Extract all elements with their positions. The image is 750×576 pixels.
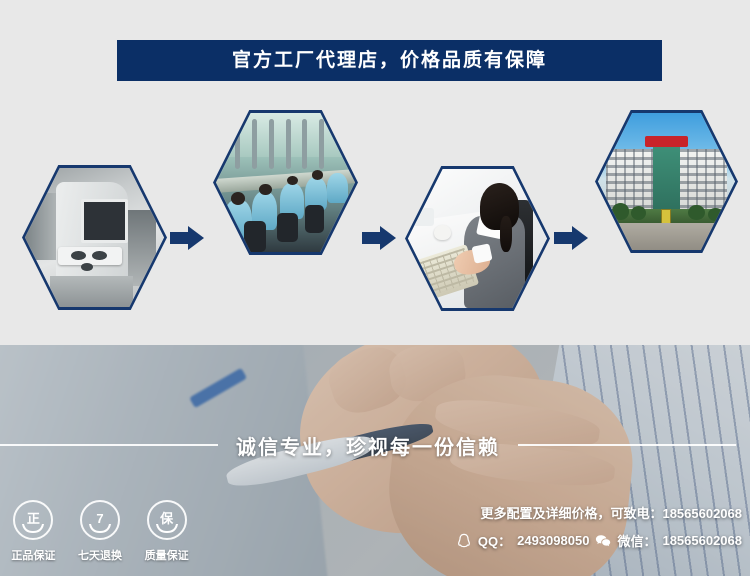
factory-line-image [216,113,355,252]
hands-icon [89,524,111,533]
qq-label: QQ： [478,531,511,550]
top-section: 官方工厂代理店，价格品质有保障 [0,0,750,345]
badge-quality-guarantee: 保 质量保证 [136,500,198,563]
contact-phone-line: 更多配置及详细价格，可致电：18565602068 [442,503,742,522]
wechat-icon [595,533,611,549]
badge-circle-icon: 7 [80,500,120,540]
badge-label: 质量保证 [145,547,189,563]
contact-im-line: QQ： 2493098050 微信： 18565602068 [442,531,742,550]
tagline-row: 诚信专业，珍视每一份信赖 [0,430,750,460]
badge-seven-day-return: 7 七天退换 [69,500,131,563]
process-step-office-service [405,166,550,311]
tagline-dash-right [518,444,736,446]
badge-glyph: 保 [160,512,173,525]
process-step-medical-equipment [22,165,167,310]
badge-circle-icon: 保 [147,500,187,540]
hands-icon [22,524,44,533]
contact-block: 更多配置及详细价格，可致电：18565602068 QQ： 2493098050… [442,503,742,550]
tagline-text: 诚信专业，珍视每一份信赖 [236,431,500,460]
title-banner: 官方工厂代理店，价格品质有保障 [117,40,662,81]
process-arrow-3 [554,226,588,250]
promo-page: 官方工厂代理店，价格品质有保障 [0,0,750,576]
process-step-factory-line [213,110,358,255]
company-building-image [598,113,735,250]
trust-badges: 正 正品保证 7 七天退换 保 [0,500,200,576]
wechat-value: 18565602068 [662,533,742,548]
hands-icon [156,524,178,533]
tagline-dash-left [0,444,218,446]
badge-label: 七天退换 [78,547,122,563]
bottom-section: 诚信专业，珍视每一份信赖 正 正品保证 7 [0,345,750,576]
process-arrow-2 [362,226,396,250]
qq-penguin-icon [456,533,472,549]
wechat-label: 微信： [617,531,656,550]
badge-label: 正品保证 [11,547,55,563]
qq-value: 2493098050 [517,533,589,548]
badge-genuine-product: 正 正品保证 [2,500,64,563]
medical-equipment-image [25,168,164,307]
badge-circle-icon: 正 [13,500,53,540]
badge-glyph: 正 [27,512,40,525]
badge-glyph: 7 [96,512,103,525]
office-service-image [408,169,547,308]
process-step-company-building [595,110,738,253]
page-title: 官方工厂代理店，价格品质有保障 [232,51,547,70]
process-arrow-1 [170,226,204,250]
